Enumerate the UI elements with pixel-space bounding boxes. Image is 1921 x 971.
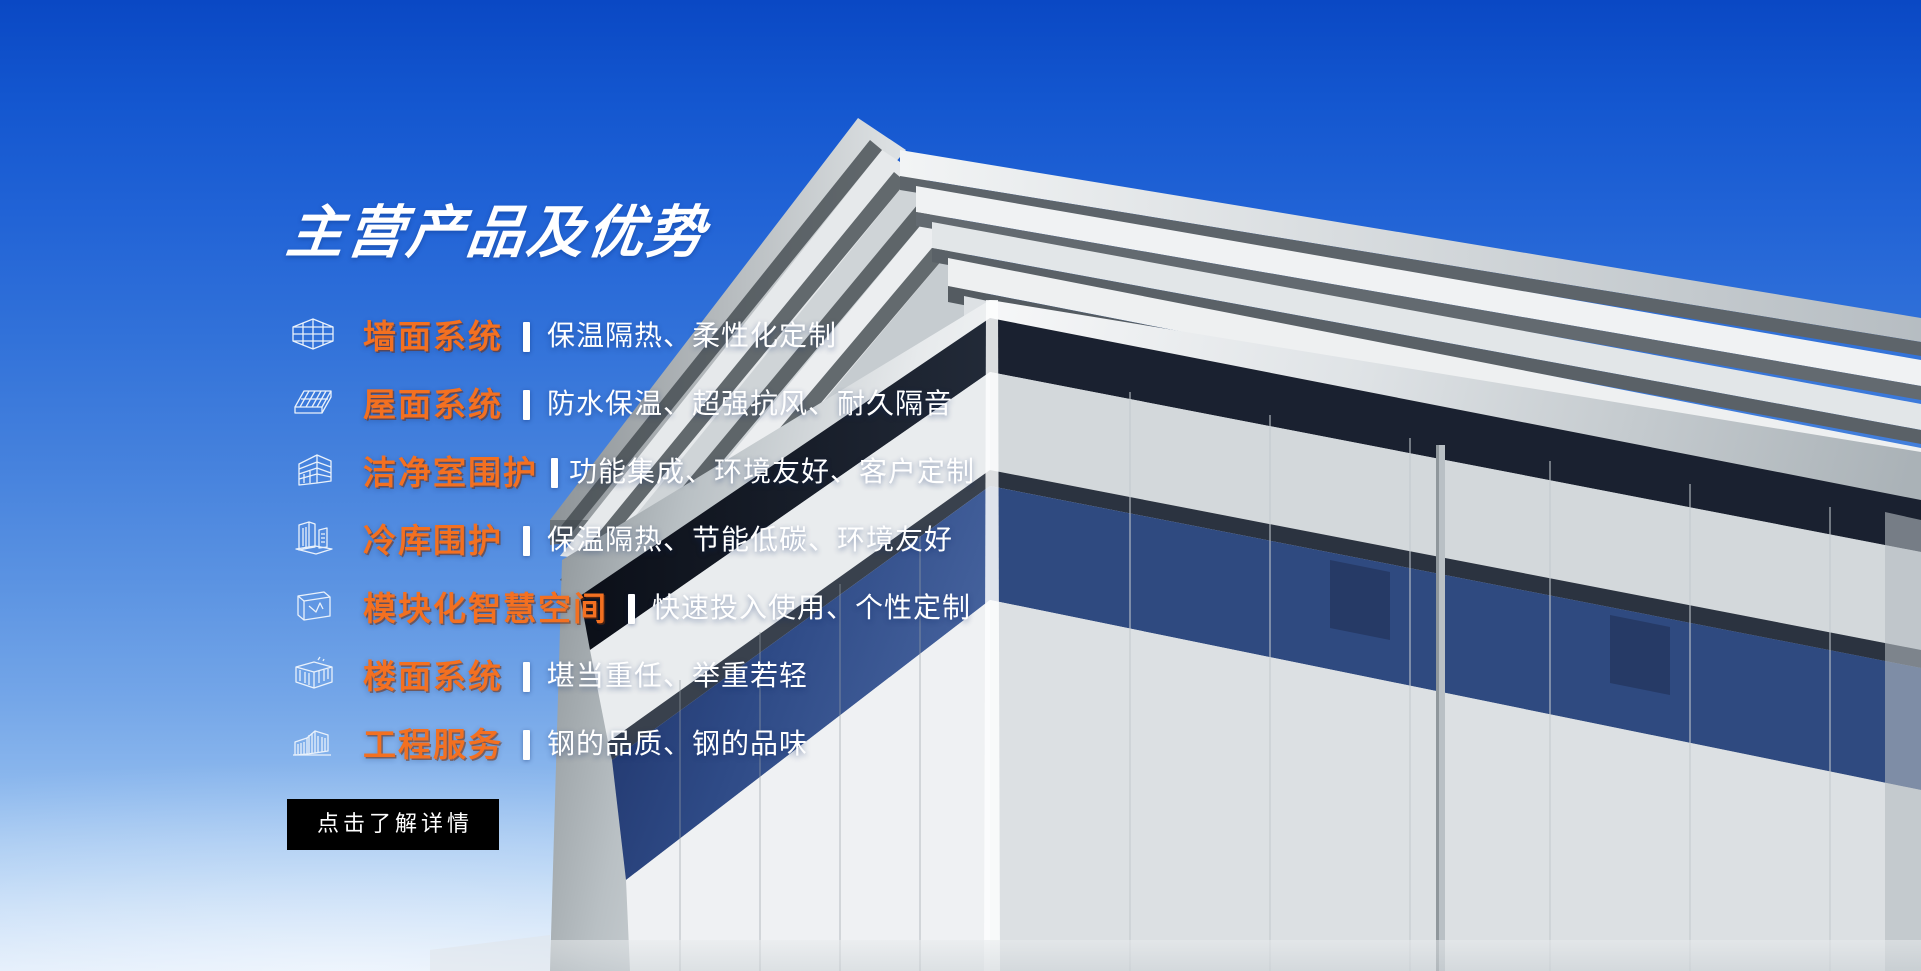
feature-description: 防水保温、超强抗风、耐久隔音 (547, 382, 953, 422)
separator-bar (551, 458, 558, 488)
cleanroom-envelope-icon (287, 446, 339, 494)
feature-label: 模块化智慧空间 (363, 582, 608, 630)
separator-bar (523, 526, 530, 556)
feature-description: 保温隔热、柔性化定制 (547, 314, 837, 354)
learn-more-button[interactable]: 点击了解详情 (287, 799, 499, 850)
feature-description: 快速投入使用、个性定制 (652, 586, 971, 626)
list-item[interactable]: 墙面系统 保温隔热、柔性化定制 (287, 300, 1187, 368)
feature-description: 功能集成、环境友好、客户定制 (569, 450, 975, 490)
feature-label: 楼面系统 (363, 650, 503, 698)
feature-description: 堪当重任、举重若轻 (547, 654, 808, 694)
list-item[interactable]: 楼面系统 堪当重任、举重若轻 (287, 640, 1187, 708)
hero-banner: 主营产品及优势 墙面系统 保温隔热、柔性化定制 (0, 0, 1921, 971)
cold-storage-envelope-icon (287, 514, 339, 562)
engineering-service-icon (287, 718, 339, 766)
separator-bar (523, 322, 530, 352)
feature-label: 洁净室围护 (363, 446, 538, 494)
list-item[interactable]: 屋面系统 防水保温、超强抗风、耐久隔音 (287, 368, 1187, 436)
page-title: 主营产品及优势 (284, 205, 711, 262)
list-item[interactable]: 洁净室围护 功能集成、环境友好、客户定制 (287, 436, 1187, 504)
list-item[interactable]: 冷库围护 保温隔热、节能低碳、环境友好 (287, 504, 1187, 572)
separator-bar (523, 662, 530, 692)
feature-description: 保温隔热、节能低碳、环境友好 (547, 518, 953, 558)
feature-label: 墙面系统 (363, 310, 503, 358)
separator-bar (523, 390, 530, 420)
roof-system-icon (287, 378, 339, 426)
separator-bar (523, 730, 530, 760)
feature-description: 钢的品质、钢的品味 (547, 722, 808, 762)
feature-label: 工程服务 (363, 718, 503, 766)
wall-system-icon (287, 310, 339, 358)
banner-content: 主营产品及优势 墙面系统 保温隔热、柔性化定制 (0, 0, 1180, 971)
feature-label: 冷库围护 (363, 514, 503, 562)
feature-label: 屋面系统 (363, 378, 503, 426)
list-item[interactable]: 模块化智慧空间 快速投入使用、个性定制 (287, 572, 1187, 640)
separator-bar (628, 594, 635, 624)
modular-smart-space-icon (287, 582, 339, 630)
feature-list: 墙面系统 保温隔热、柔性化定制 屋面系统 防水保温、超强抗风、 (287, 300, 1187, 776)
floor-system-icon (287, 650, 339, 698)
list-item[interactable]: 工程服务 钢的品质、钢的品味 (287, 708, 1187, 776)
